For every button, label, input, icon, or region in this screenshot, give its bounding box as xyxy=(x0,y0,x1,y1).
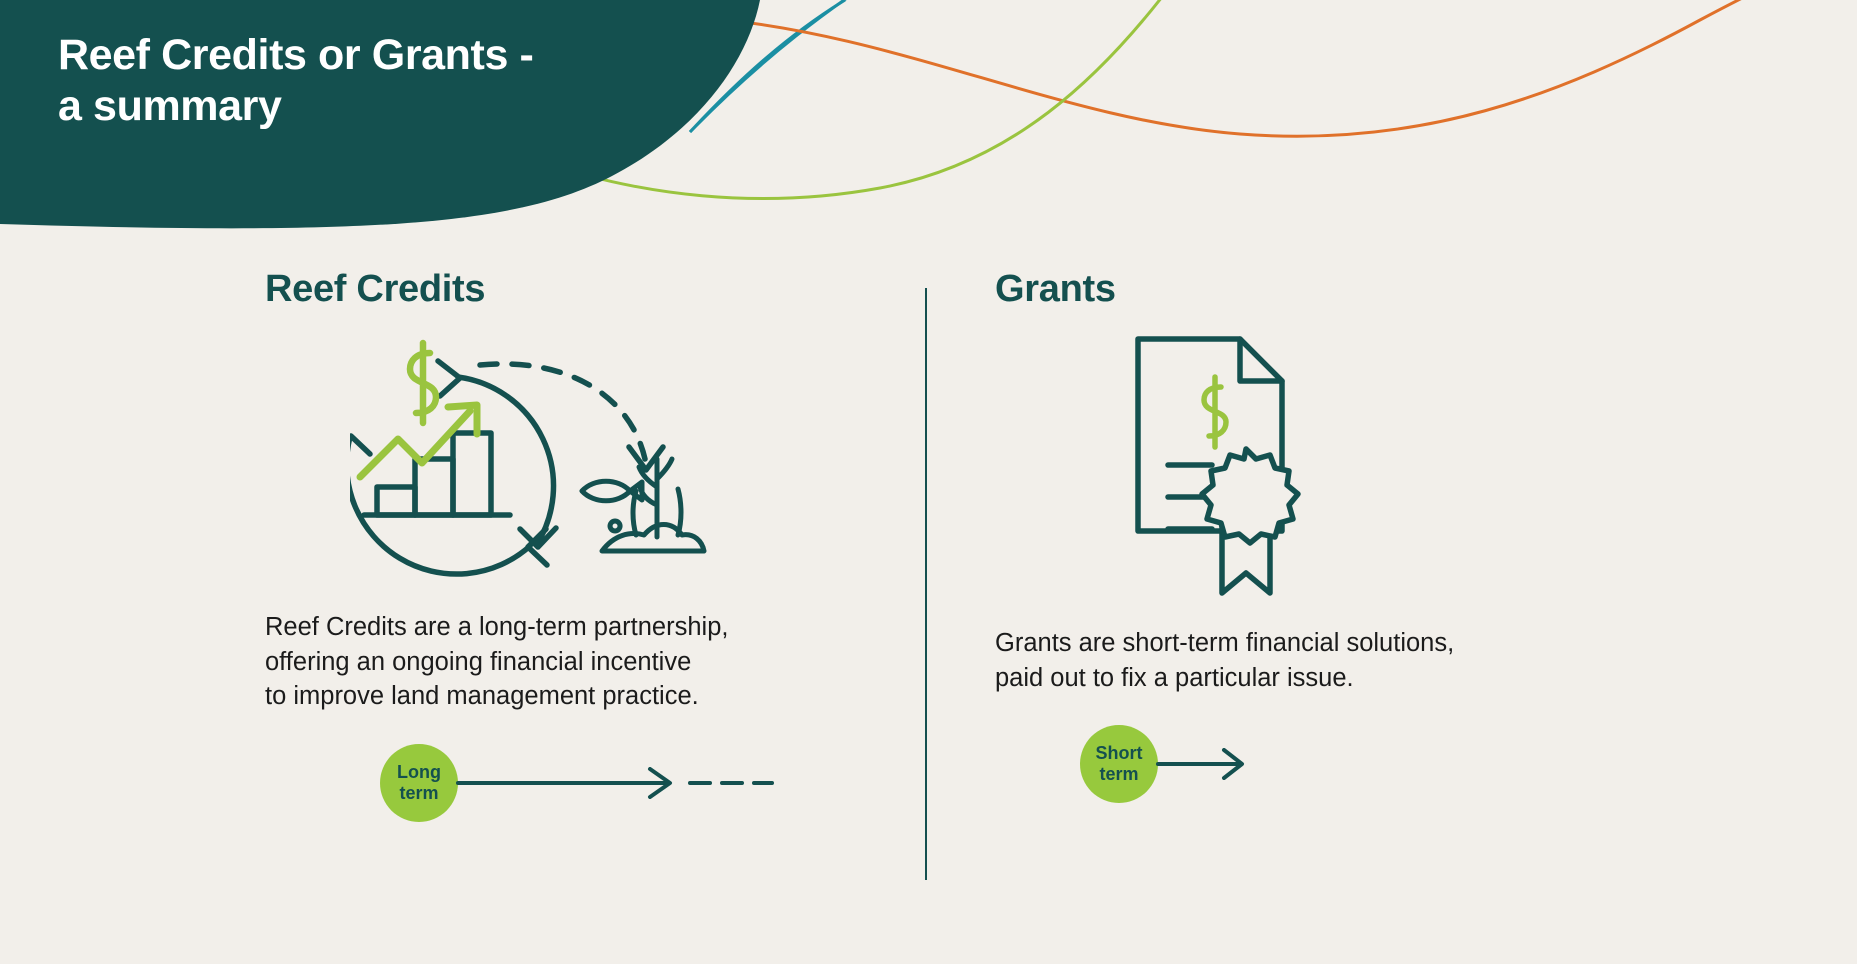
cycle-arrowhead-top xyxy=(438,361,460,396)
dollar-sign-glyph xyxy=(410,343,436,423)
page-title: Reef Credits or Grants - a summary xyxy=(58,30,718,131)
coral-left-frond xyxy=(633,491,636,535)
infographic-canvas: Reef Credits or Grants - a summary Reef … xyxy=(0,0,1857,964)
column-heading-reef-credits: Reef Credits xyxy=(265,270,900,308)
column-grants: Grants xyxy=(995,270,1715,803)
cycle-arrowhead-left xyxy=(350,436,370,455)
badge-short-term-line-1: Short xyxy=(1096,743,1143,764)
badge-short-term[interactable]: Short term xyxy=(1080,725,1158,803)
column-reef-credits: Reef Credits xyxy=(180,270,900,822)
short-term-timeline-arrow xyxy=(1154,748,1264,780)
column-heading-grants: Grants xyxy=(995,270,1715,308)
decor-curve-orange xyxy=(706,0,1857,136)
column-divider xyxy=(925,288,927,880)
long-term-timeline-arrow xyxy=(454,767,774,799)
reef-credits-cycle-icon xyxy=(180,334,900,604)
body-text-grants: Grants are short-term financial solution… xyxy=(995,626,1715,695)
certificate-dollar-glyph xyxy=(1204,377,1226,447)
badge-long-term[interactable]: Long term xyxy=(380,744,458,822)
grant-certificate-icon xyxy=(1120,326,1715,606)
page-title-line-2: a summary xyxy=(58,81,718,132)
bar-large xyxy=(453,433,491,515)
timeline-row-long-term: Long term xyxy=(380,744,900,822)
decor-curve-cyan xyxy=(690,0,905,132)
bar-medium xyxy=(415,459,453,515)
bar-small xyxy=(377,487,415,515)
fish-body xyxy=(582,481,630,501)
body-text-reef-credits: Reef Credits are a long-term partnership… xyxy=(265,610,900,714)
page-title-line-1: Reef Credits or Grants - xyxy=(58,30,718,81)
dashed-transfer-arc xyxy=(480,364,645,459)
badge-short-term-line-2: term xyxy=(1099,764,1138,785)
badge-long-term-line-1: Long xyxy=(397,762,441,783)
timeline-row-short-term: Short term xyxy=(1080,725,1715,803)
coral-pebble xyxy=(610,521,620,531)
badge-long-term-line-2: term xyxy=(399,783,438,804)
